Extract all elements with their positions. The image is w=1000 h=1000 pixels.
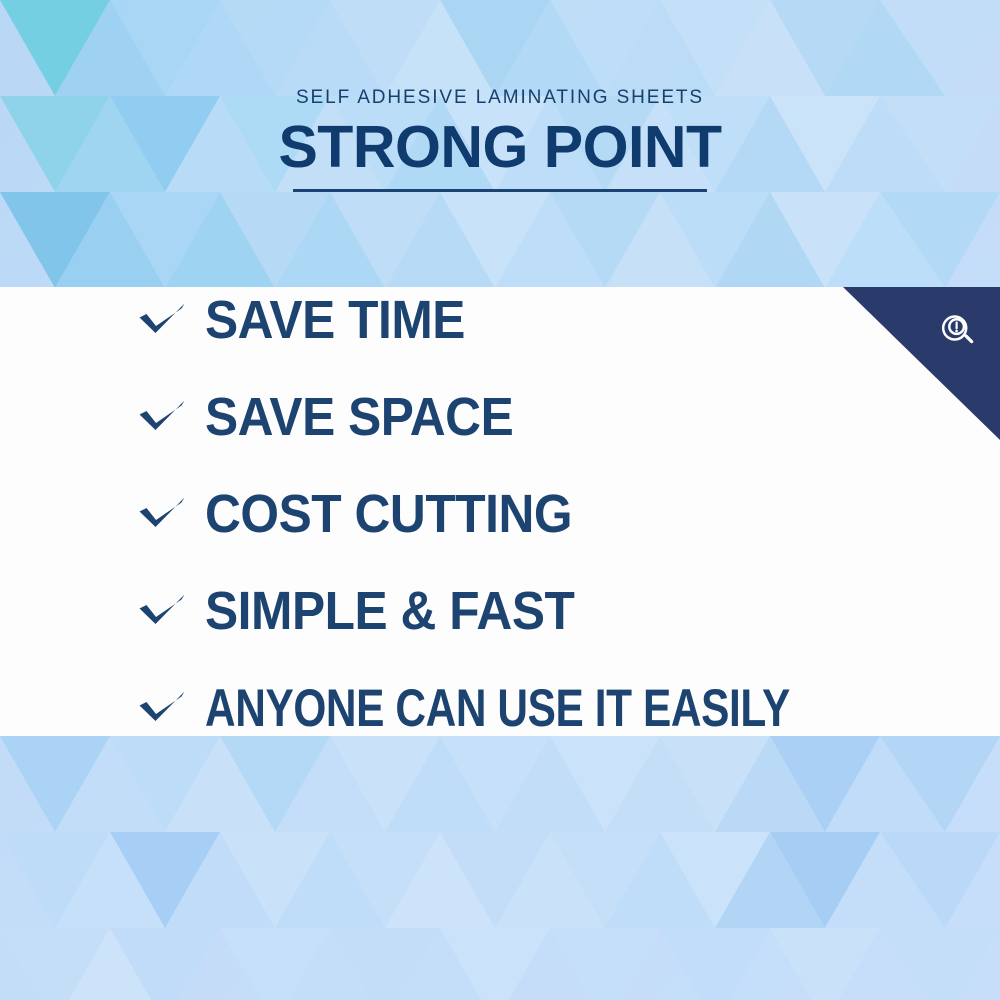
page-title: STRONG POINT (0, 118, 1000, 177)
list-item: ANYONE CAN USE IT EASILY (138, 677, 936, 739)
check-icon (138, 688, 186, 728)
list-item-label: SAVE TIME (205, 293, 465, 347)
poster-eyebrow: SELF ADHESIVE LAMINATING SHEETS (0, 88, 1000, 107)
list-item: SAVE TIME (138, 289, 488, 351)
promo-poster: SELF ADHESIVE LAMINATING SHEETS STRONG P… (0, 0, 1000, 1000)
check-icon (138, 494, 186, 534)
list-item-label: SAVE SPACE (205, 390, 513, 444)
list-item: COST CUTTING (138, 483, 604, 545)
list-item-label: ANYONE CAN USE IT EASILY (205, 682, 790, 735)
check-icon (138, 397, 186, 437)
poster-header: SELF ADHESIVE LAMINATING SHEETS STRONG P… (0, 88, 1000, 192)
benefits-list: SAVE TIME SAVE SPACE COST CUTTING SIMPLE… (0, 287, 1000, 736)
list-item-label: SIMPLE & FAST (205, 584, 574, 638)
check-icon (138, 300, 186, 340)
headline-underline (293, 189, 707, 192)
check-icon (138, 591, 186, 631)
list-item: SAVE SPACE (138, 386, 540, 448)
list-item: SIMPLE & FAST (138, 580, 607, 642)
list-item-label: COST CUTTING (205, 487, 572, 541)
